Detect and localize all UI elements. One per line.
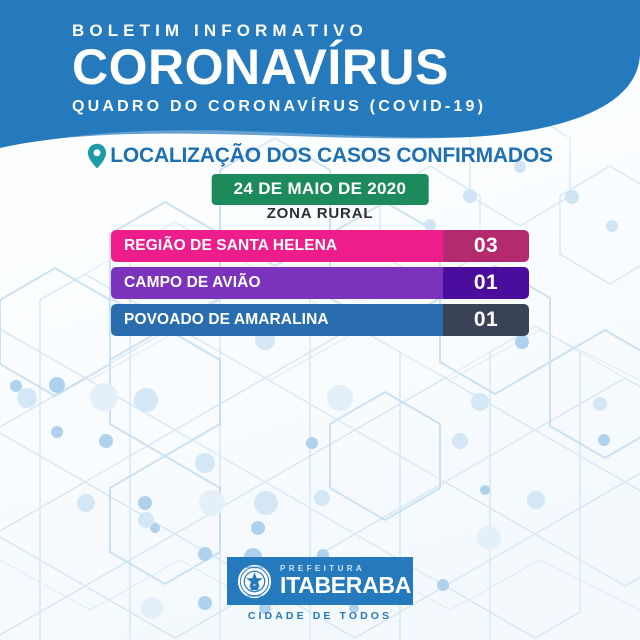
svg-text:ITABERABA: ITABERABA (247, 593, 263, 597)
header-kicker: BOLETIM INFORMATIVO (72, 22, 640, 39)
svg-text:PREFEITURA: PREFEITURA (246, 565, 263, 569)
header-subkicker: QUADRO DO CORONAVÍRUS (COVID-19) (72, 99, 640, 115)
case-count: 01 (443, 304, 529, 336)
location-label: REGIÃO DE SANTA HELENA (111, 230, 443, 262)
zone-heading: ZONA RURAL (0, 205, 640, 222)
logo-box: PREFEITURA ITABERABA PREFEITURA ITABERAB… (227, 557, 413, 605)
table-row: POVOADO DE AMARALINA 01 (111, 304, 529, 336)
date-badge: 24 DE MAIO DE 2020 (212, 174, 429, 205)
logo-tagline: CIDADE DE TODOS (227, 610, 413, 622)
header-banner: BOLETIM INFORMATIVO CORONAVÍRUS QUADRO D… (0, 0, 640, 150)
case-count: 03 (443, 230, 529, 262)
city-seal-icon: PREFEITURA ITABERABA (237, 564, 272, 599)
logo-city-label: ITABERABA (280, 574, 411, 597)
table-row: REGIÃO DE SANTA HELENA 03 (111, 230, 529, 262)
section-title-label: LOCALIZAÇÃO DOS CASOS CONFIRMADOS (110, 144, 553, 168)
location-label: CAMPO DE AVIÃO (111, 267, 443, 299)
location-label: POVOADO DE AMARALINA (111, 304, 443, 336)
page-title: CORONAVÍRUS (72, 41, 640, 94)
cases-bar-list: REGIÃO DE SANTA HELENA 03 CAMPO DE AVIÃO… (111, 230, 529, 341)
section-title-row: LOCALIZAÇÃO DOS CASOS CONFIRMADOS (0, 143, 640, 169)
case-count: 01 (443, 267, 529, 299)
map-pin-icon (87, 143, 107, 169)
table-row: CAMPO DE AVIÃO 01 (111, 267, 529, 299)
footer-logo: PREFEITURA ITABERABA PREFEITURA ITABERAB… (227, 557, 413, 622)
